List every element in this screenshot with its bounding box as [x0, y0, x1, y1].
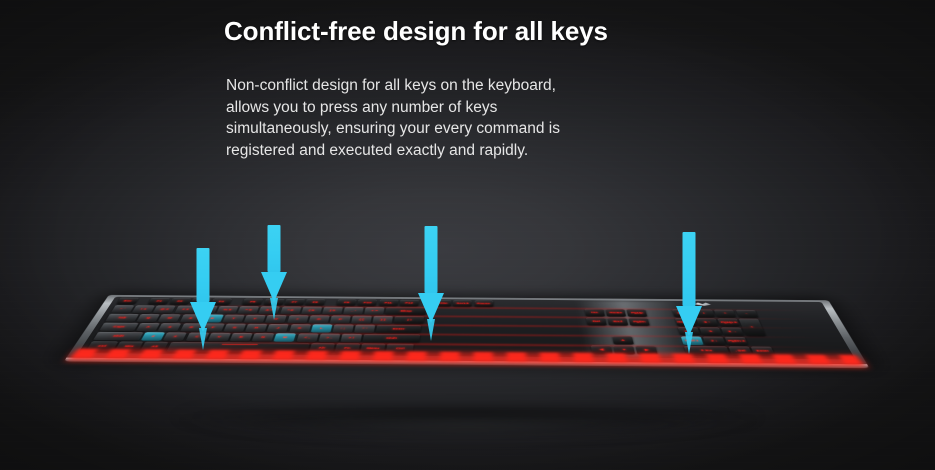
keycap[interactable]: T — [222, 315, 245, 323]
keycap[interactable]: + = — [364, 307, 384, 315]
down-arrow-icon — [676, 232, 702, 354]
key-legend: PgDn — [633, 320, 646, 323]
key-legend: F10 — [363, 302, 371, 304]
key-legend: F1 — [156, 300, 163, 302]
key-legend: O — [317, 318, 321, 321]
keycap[interactable]: O — [308, 315, 329, 323]
key-legend: PgUp 9 — [720, 321, 737, 324]
keycap[interactable]: P — [330, 315, 351, 323]
key-row: InsHomePgUp — [585, 309, 648, 317]
key-legend: ) 0 — [329, 309, 335, 312]
keycap[interactable]: - — [735, 310, 758, 318]
key-gap — [231, 299, 243, 306]
key-legend: F12 — [405, 302, 413, 304]
feature-description: Non-conflict design for all keys on the … — [226, 75, 598, 161]
keycap[interactable]: % 5 — [216, 306, 238, 314]
key-legend: Del — [593, 320, 601, 323]
key-row: DelEndPgDn — [586, 317, 650, 325]
keycap[interactable]: Q — [136, 314, 160, 322]
key-legend: End — [613, 320, 622, 323]
keycap[interactable]: } ] — [373, 316, 394, 324]
keycap[interactable]: End — [607, 318, 628, 326]
key-legend: @ 2 — [160, 308, 170, 311]
key-legend: ! 1 — [140, 308, 147, 311]
keycap[interactable]: W — [158, 314, 181, 322]
key-legend: F9 — [344, 301, 350, 303]
keycap[interactable]: * — [714, 310, 736, 318]
key-legend: 8 ↑ — [704, 321, 711, 324]
key-legend: _ - — [351, 310, 357, 313]
key-legend: ^ 6 — [245, 309, 252, 312]
arrow-shaft — [268, 225, 281, 272]
key-gap — [326, 299, 337, 306]
keycap[interactable]: _ - — [343, 307, 364, 315]
keycap[interactable]: Home — [606, 309, 627, 317]
desk-reflection — [88, 418, 848, 452]
product-feature-slide: Conflict-free design for all keys Non-co… — [0, 0, 935, 470]
keycap[interactable]: ^ 6 — [237, 306, 259, 314]
keycap[interactable]: F11 — [378, 300, 398, 307]
keycap[interactable]: F10 — [357, 299, 377, 306]
page-title: Conflict-free design for all keys — [224, 16, 608, 47]
key-legend: F7 — [291, 301, 297, 303]
key-legend: | \ — [407, 319, 411, 322]
key-legend: F4 — [218, 300, 224, 302]
keycap[interactable]: ) 0 — [322, 307, 343, 315]
keycap[interactable]: Tab — [105, 314, 139, 322]
key-legend: Ins — [591, 311, 598, 314]
key-legend: Pause — [477, 302, 490, 305]
keycap[interactable]: @ 2 — [153, 305, 176, 313]
key-legend: Q — [146, 317, 151, 320]
keycap[interactable]: PgDn — [629, 318, 650, 326]
keycap[interactable]: F1 — [148, 298, 170, 305]
keycap[interactable]: Ins — [585, 309, 605, 317]
key-legend: PgUp — [631, 312, 644, 315]
key-legend: { [ — [359, 318, 364, 321]
key-legend: Tab — [117, 317, 126, 320]
key-legend: # 3 — [182, 308, 190, 311]
keycap[interactable]: F9 — [337, 299, 357, 306]
key-legend: Bksp — [400, 310, 411, 313]
keycap[interactable]: Pause — [474, 300, 493, 307]
key-legend: + = — [371, 310, 378, 313]
down-arrow-icon — [261, 225, 287, 320]
keycap[interactable]: F12 — [399, 300, 419, 307]
key-legend: * — [724, 312, 727, 315]
keycap[interactable]: PgUp — [627, 309, 648, 317]
keycap[interactable]: { [ — [351, 316, 372, 324]
arrow-shaft — [197, 248, 210, 302]
keycap[interactable]: ~ ` — [111, 305, 135, 313]
down-arrow-icon — [190, 248, 216, 350]
arrow-shaft — [425, 226, 438, 293]
key-legend: % 5 — [223, 309, 232, 312]
key-legend: } ] — [380, 319, 385, 322]
key-legend: F11 — [384, 302, 392, 304]
key-legend: ~ ` — [119, 308, 126, 311]
key-legend: / — [703, 312, 705, 315]
key-legend: ( 9 — [308, 309, 314, 312]
keycap[interactable]: Del — [586, 317, 607, 325]
key-legend: W — [167, 317, 173, 320]
arrow-shaft — [683, 232, 696, 306]
keycap[interactable]: ! 1 — [132, 305, 155, 313]
key-legend: Home — [609, 311, 622, 314]
key-legend: F5 — [250, 301, 256, 303]
keycap[interactable]: F8 — [305, 299, 326, 306]
key-legend: * 8 — [287, 309, 293, 312]
keycap[interactable]: F2 — [169, 298, 191, 305]
key-legend: Esc — [123, 300, 132, 302]
keycap[interactable]: ScrLk — [453, 300, 472, 307]
keycap[interactable]: ( 9 — [301, 307, 322, 315]
keycap[interactable]: I — [287, 315, 309, 323]
key-legend: T — [232, 317, 236, 320]
key-legend: I — [296, 318, 298, 321]
key-legend: Y — [253, 318, 257, 321]
key-legend: F2 — [177, 300, 183, 302]
down-arrow-icon — [418, 226, 444, 341]
keycap[interactable]: Esc — [116, 298, 139, 305]
key-legend: - — [745, 313, 748, 316]
key-legend: F8 — [312, 301, 318, 303]
key-legend: ScrLk — [456, 302, 469, 305]
key-legend: P — [338, 318, 342, 321]
